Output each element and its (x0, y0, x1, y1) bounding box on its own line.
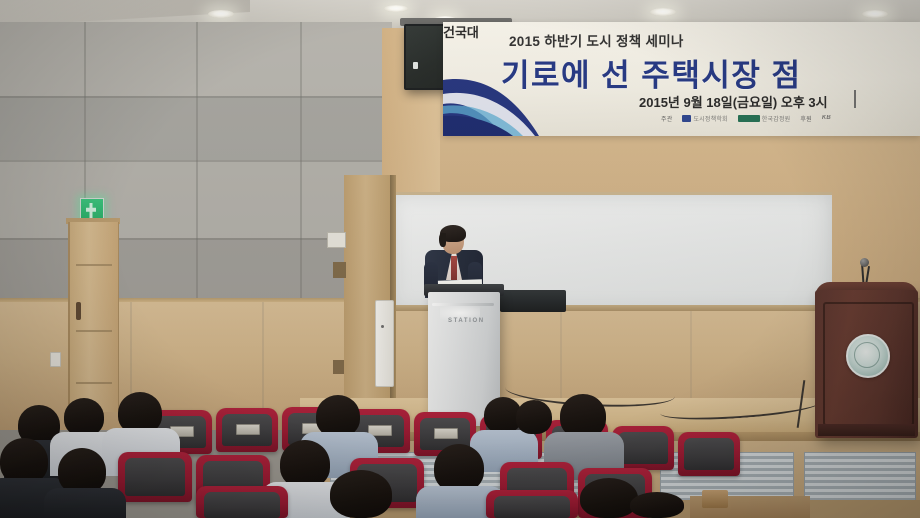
control-box-indicator-icon (381, 325, 384, 328)
door-panel-line (76, 330, 112, 332)
lectern-emblem-inner-ring (854, 342, 880, 368)
panel-seam (300, 22, 302, 312)
seat-backrest (204, 492, 280, 518)
banner-divider (854, 90, 856, 108)
panel-seam (0, 160, 392, 162)
audience-head (434, 444, 484, 492)
ceiling-light (650, 8, 676, 16)
audience-head (630, 492, 684, 518)
audience-shoulders (44, 488, 126, 518)
banner-date: 2015년 9월 18일(금요일) 오후 3시 (639, 92, 828, 111)
door-hinge (333, 262, 346, 278)
seat-backrest (618, 432, 668, 464)
stage-vent-grille (804, 452, 916, 502)
seat-number-plate (236, 424, 260, 435)
lectern-base (818, 424, 915, 436)
podium-brand-label: STATION (448, 318, 508, 324)
banner-subtitle: 2015 하반기 도시 정책 세미나 (509, 30, 684, 50)
ceiling-light (208, 10, 234, 18)
seminar-banner: 2015 하반기 도시 정책 세미나 기로에 선 주택시장 점 2015년 9월… (443, 22, 920, 136)
audience-head (316, 395, 360, 437)
sponsor-mark-icon (738, 115, 760, 122)
podium-monitor (500, 290, 566, 312)
audience-head (280, 440, 330, 488)
door-panel-line (76, 382, 112, 384)
sponsor-logo-b: 한국감정원 (738, 114, 791, 123)
support-prefix: 후원 (800, 114, 811, 123)
sponsor-mark-icon (682, 115, 691, 122)
small-object-on-floor (702, 490, 728, 508)
panel-seam (196, 22, 198, 312)
audience-head (580, 478, 638, 518)
audience-head (330, 470, 392, 518)
wall-mounted-control-box[interactable] (375, 300, 394, 387)
auditorium-photo: 2015 하반기 도시 정책 세미나 기로에 선 주택시장 점 2015년 9월… (0, 0, 920, 518)
banner-title: 기로에 선 주택시장 점 (501, 50, 802, 95)
speaker-tie (451, 256, 457, 280)
sponsor-logo-a: 도시정책학회 (682, 114, 727, 123)
audience-head (64, 398, 104, 436)
microphone-icon (860, 258, 869, 267)
door-panel-line (76, 264, 112, 266)
speaker-hair-side (439, 233, 446, 247)
ceiling-light (862, 10, 888, 18)
ceiling-light (384, 5, 408, 12)
banner-sponsor-row: 주관도시정책학회한국감정원후원KB (661, 114, 841, 123)
seat-backrest (125, 458, 185, 496)
support-logo-a: KB (822, 115, 831, 122)
door-sign-plate (327, 232, 346, 248)
seat-backrest (494, 496, 570, 518)
seat-number-plate (434, 428, 458, 439)
audience-head (516, 400, 552, 434)
door-hinge (333, 360, 344, 374)
tv-power-led-icon (413, 62, 418, 69)
seat-backrest (684, 438, 734, 470)
left-door-handle[interactable] (76, 302, 81, 320)
panel-seam (0, 96, 392, 98)
sponsor-prefix: 주관 (661, 114, 672, 123)
wall-outlet (50, 352, 61, 367)
